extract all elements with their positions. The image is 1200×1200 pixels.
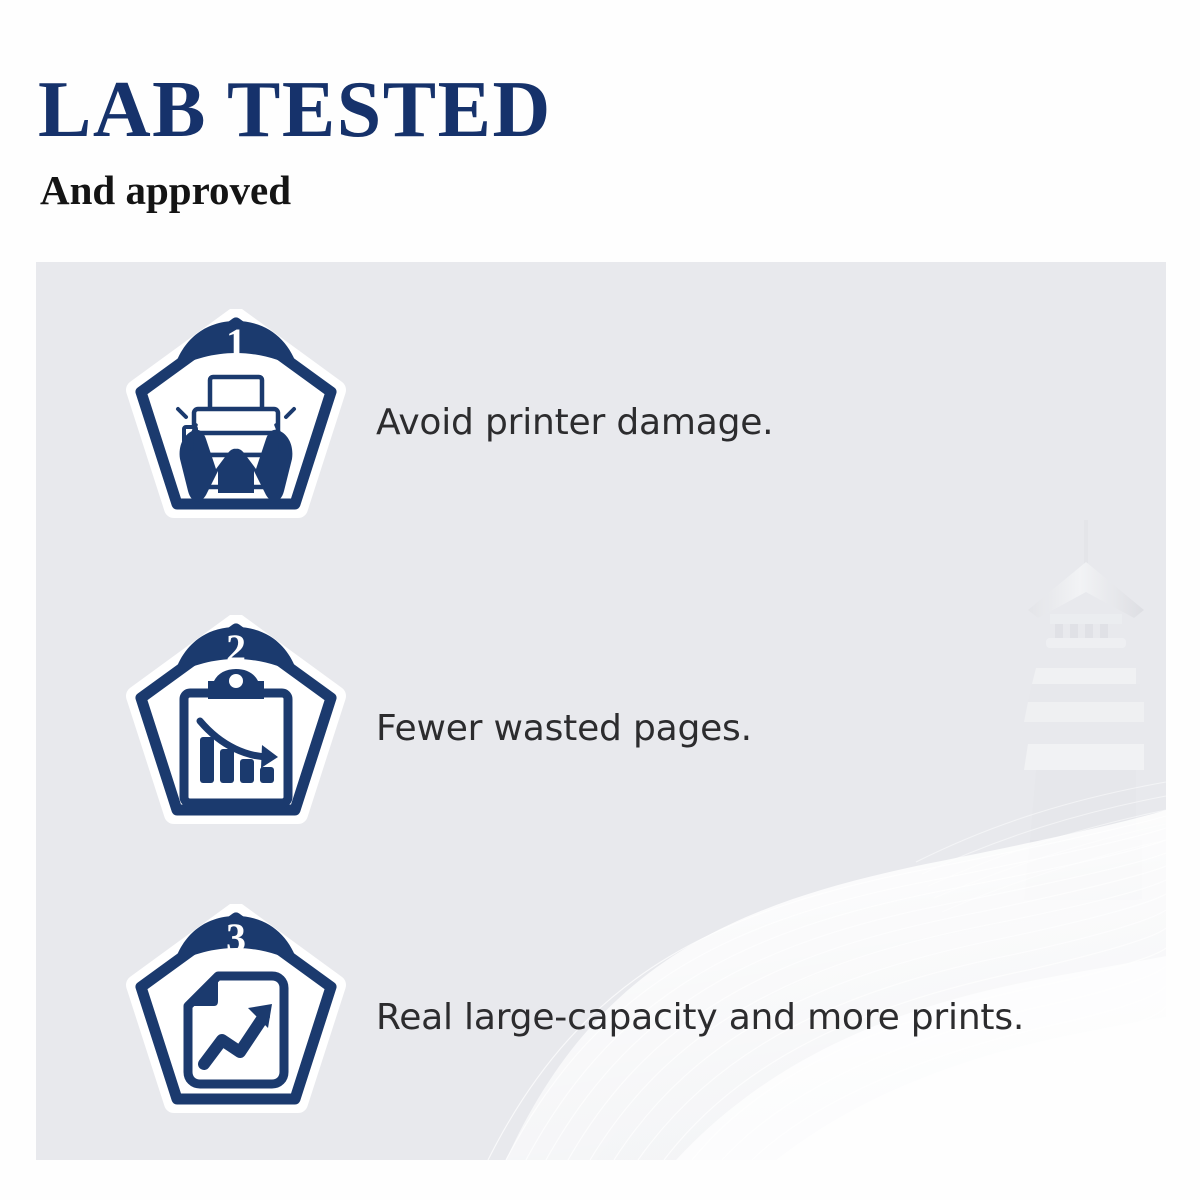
feature-row: 2: [122, 614, 1122, 844]
feature-label: Real large-capacity and more prints.: [376, 996, 1024, 1039]
feature-label: Avoid printer damage.: [376, 401, 773, 444]
step-number: 1: [226, 320, 246, 365]
clipboard-declining-bar-chart-icon: 2: [122, 615, 350, 843]
step-number: 3: [226, 915, 246, 960]
step-number: 2: [226, 626, 246, 671]
feature-row: 1: [122, 308, 1122, 538]
header: LAB TESTED And approved: [38, 72, 938, 211]
features-panel: 1: [36, 262, 1166, 1160]
document-rising-arrow-icon: 3: [122, 904, 350, 1132]
hands-holding-printer-icon: 1: [122, 309, 350, 537]
feature-list: 1: [36, 262, 1166, 1160]
page-title: LAB TESTED: [38, 72, 938, 148]
feature-row: 3 Real large-capacity and more prints.: [122, 903, 1122, 1133]
page-subtitle: And approved: [40, 170, 938, 211]
infographic-page: LAB TESTED And approved: [0, 0, 1200, 1200]
feature-label: Fewer wasted pages.: [376, 707, 752, 750]
